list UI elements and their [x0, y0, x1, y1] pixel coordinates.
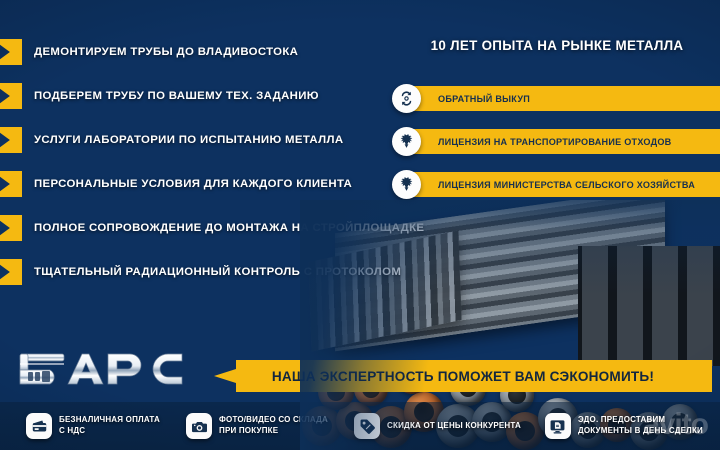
steel-pipes-photo: [300, 200, 720, 450]
benefit-label: УСЛУГИ ЛАБОРАТОРИИ ПО ИСПЫТАНИЮ МЕТАЛЛА: [34, 134, 343, 146]
list-item: ПОДБЕРЕМ ТРУБУ ПО ВАШЕМУ ТЕХ. ЗАДАНИЮ: [0, 74, 390, 118]
badge-buyback: ОБРАТНЫЙ ВЫКУП: [392, 86, 720, 111]
double-headed-eagle-icon: [392, 170, 421, 199]
buyback-recycle-icon: [392, 84, 421, 113]
company-logo[interactable]: [16, 348, 196, 394]
ribbon-bullet-icon: [0, 39, 22, 65]
footer-line-1: БЕЗНАЛИЧНАЯ ОПЛАТА: [59, 415, 160, 424]
badge-agriculture-ministry-license: ЛИЦЕНЗИЯ МИНИСТЕРСТВА СЕЛЬСКОГО ХОЗЯЙСТВ…: [392, 172, 720, 197]
camera-icon: [186, 413, 212, 439]
ribbon-bullet-icon: [0, 127, 22, 153]
ribbon-bullet-icon: [0, 171, 22, 197]
footer-line-2: ПРИ ПОКУПКЕ: [219, 426, 278, 435]
footer-item-text: БЕЗНАЛИЧНАЯ ОПЛАТА С НДС: [59, 415, 160, 437]
footer-line-2: С НДС: [59, 426, 85, 435]
ribbon-bullet-icon: [0, 83, 22, 109]
list-item: УСЛУГИ ЛАБОРАТОРИИ ПО ИСПЫТАНИЮ МЕТАЛЛА: [0, 118, 390, 162]
card-payment-icon: [26, 413, 52, 439]
photo-fade-overlay: [300, 200, 720, 450]
badge-label: ЛИЦЕНЗИЯ НА ТРАНСПОРТИРОВАНИЕ ОТХОДОВ: [438, 137, 672, 147]
badge-label: ЛИЦЕНЗИЯ МИНИСТЕРСТВА СЕЛЬСКОГО ХОЗЯЙСТВ…: [438, 180, 695, 190]
page-title: 10 ЛЕТ ОПЫТА НА РЫНКЕ МЕТАЛЛА: [404, 38, 710, 53]
benefit-label: ПОДБЕРЕМ ТРУБУ ПО ВАШЕМУ ТЕХ. ЗАДАНИЮ: [34, 90, 319, 102]
benefit-label: ПЕРСОНАЛЬНЫЕ УСЛОВИЯ ДЛЯ КАЖДОГО КЛИЕНТА: [34, 178, 352, 190]
badge-waste-transport-license: ЛИЦЕНЗИЯ НА ТРАНСПОРТИРОВАНИЕ ОТХОДОВ: [392, 129, 720, 154]
benefit-label: ДЕМОНТИРУЕМ ТРУБЫ ДО ВЛАДИВОСТОКА: [34, 46, 298, 58]
ribbon-bullet-icon: [0, 259, 22, 285]
certification-badges: ОБРАТНЫЙ ВЫКУП ЛИЦЕНЗИЯ НА ТРАНСПОРТИРОВ…: [392, 86, 720, 215]
double-headed-eagle-icon: [392, 127, 421, 156]
badge-label: ОБРАТНЫЙ ВЫКУП: [438, 94, 530, 104]
footer-item-cashless-payment: БЕЗНАЛИЧНАЯ ОПЛАТА С НДС: [26, 413, 160, 439]
advertisement-banner: ДЕМОНТИРУЕМ ТРУБЫ ДО ВЛАДИВОСТОКА ПОДБЕР…: [0, 0, 720, 450]
list-item: ДЕМОНТИРУЕМ ТРУБЫ ДО ВЛАДИВОСТОКА: [0, 30, 390, 74]
ribbon-bullet-icon: [0, 215, 22, 241]
